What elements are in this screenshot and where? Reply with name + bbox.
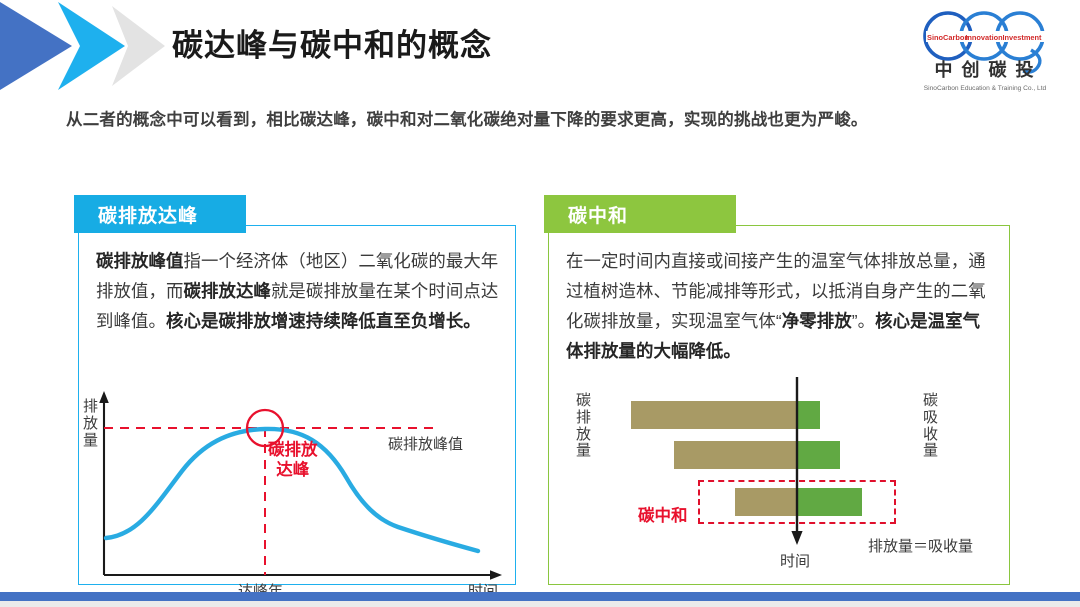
peak-annotation-line-2: 达峰 <box>268 461 318 481</box>
header-arrow-graphic <box>0 0 180 92</box>
chart-left-x-arrow <box>490 570 502 580</box>
panel-carbon-neutral: 碳中和 在一定时间内直接或间接产生的温室气体排放总量，通过植树造林、节能减排等形… <box>548 225 1010 585</box>
logo-ring-label-1: SinoCarbon <box>927 33 969 42</box>
vlabel-char: 量 <box>82 433 99 450</box>
logo-ring-label-2: Innovation <box>965 33 1003 42</box>
triple-chevron-right-icon <box>0 0 180 92</box>
panel-right-body: 在一定时间内直接或间接产生的温室气体排放总量，通过植树造林、节能减排等形式，以抵… <box>566 247 994 367</box>
peak-annotation-label: 碳排放 达峰 <box>268 441 318 481</box>
logo-ring-label-3: Investment <box>1002 33 1042 42</box>
balance-note-label: 排放量＝吸收量 <box>868 535 973 556</box>
time-axis-arrowhead <box>791 531 802 545</box>
text-run: ”。 <box>852 311 875 331</box>
text-run-bold: 碳排放峰值 <box>96 251 183 271</box>
logo-name-en: SinoCarbon Education & Training Co., Ltd <box>924 85 1047 92</box>
text-run-bold: 碳排放达峰 <box>183 281 270 301</box>
page-title: 碳达峰与碳中和的概念 <box>172 20 492 65</box>
logo-name-cn: 中 创 碳 投 <box>934 59 1035 80</box>
vlabel-char: 排 <box>82 399 99 416</box>
chart-left-ylabel: 排放量 <box>82 399 99 449</box>
chart-left-y-arrow <box>99 391 109 403</box>
chart-left-svg <box>78 385 516 583</box>
peak-value-label: 碳排放峰值 <box>388 433 463 454</box>
peak-annotation-line-1: 碳排放 <box>268 441 318 461</box>
chart-carbon-neutral-bars: 碳排放量 碳吸收量 碳中和 排放量＝吸收量 时间 <box>548 375 1010 583</box>
neutral-box-label: 碳中和 <box>638 507 688 527</box>
footer-accent-bar <box>0 592 1080 601</box>
sinocarbon-logo-icon: SinoCarbon Innovation Investment 中 创 碳 投… <box>906 8 1066 100</box>
footer-strip <box>0 601 1080 607</box>
panel-left-tab: 碳排放达峰 <box>74 195 246 233</box>
panel-right-tab: 碳中和 <box>544 195 736 233</box>
panel-left-body: 碳排放峰值指一个经济体（地区）二氧化碳的最大年排放值，而碳排放达峰就是碳排放量在… <box>96 247 500 337</box>
text-run-bold: 核心是碳排放增速持续降低直至负增长。 <box>166 311 481 331</box>
panel-carbon-peak: 碳排放达峰 碳排放峰值指一个经济体（地区）二氧化碳的最大年排放值，而碳排放达峰就… <box>78 225 516 585</box>
logo: SinoCarbon Innovation Investment 中 创 碳 投… <box>906 8 1066 100</box>
chart-carbon-peak-curve: 排放量 碳排放 达峰 碳排放峰值 达峰年 时间 <box>78 385 516 583</box>
vlabel-char: 放 <box>82 416 99 433</box>
chart-right-xlabel: 时间 <box>780 550 810 571</box>
subtitle-text: 从二者的概念中可以看到，相比碳达峰，碳中和对二氧化碳绝对量下降的要求更高，实现的… <box>66 108 1006 134</box>
text-run-bold: 净零排放 <box>782 311 852 331</box>
